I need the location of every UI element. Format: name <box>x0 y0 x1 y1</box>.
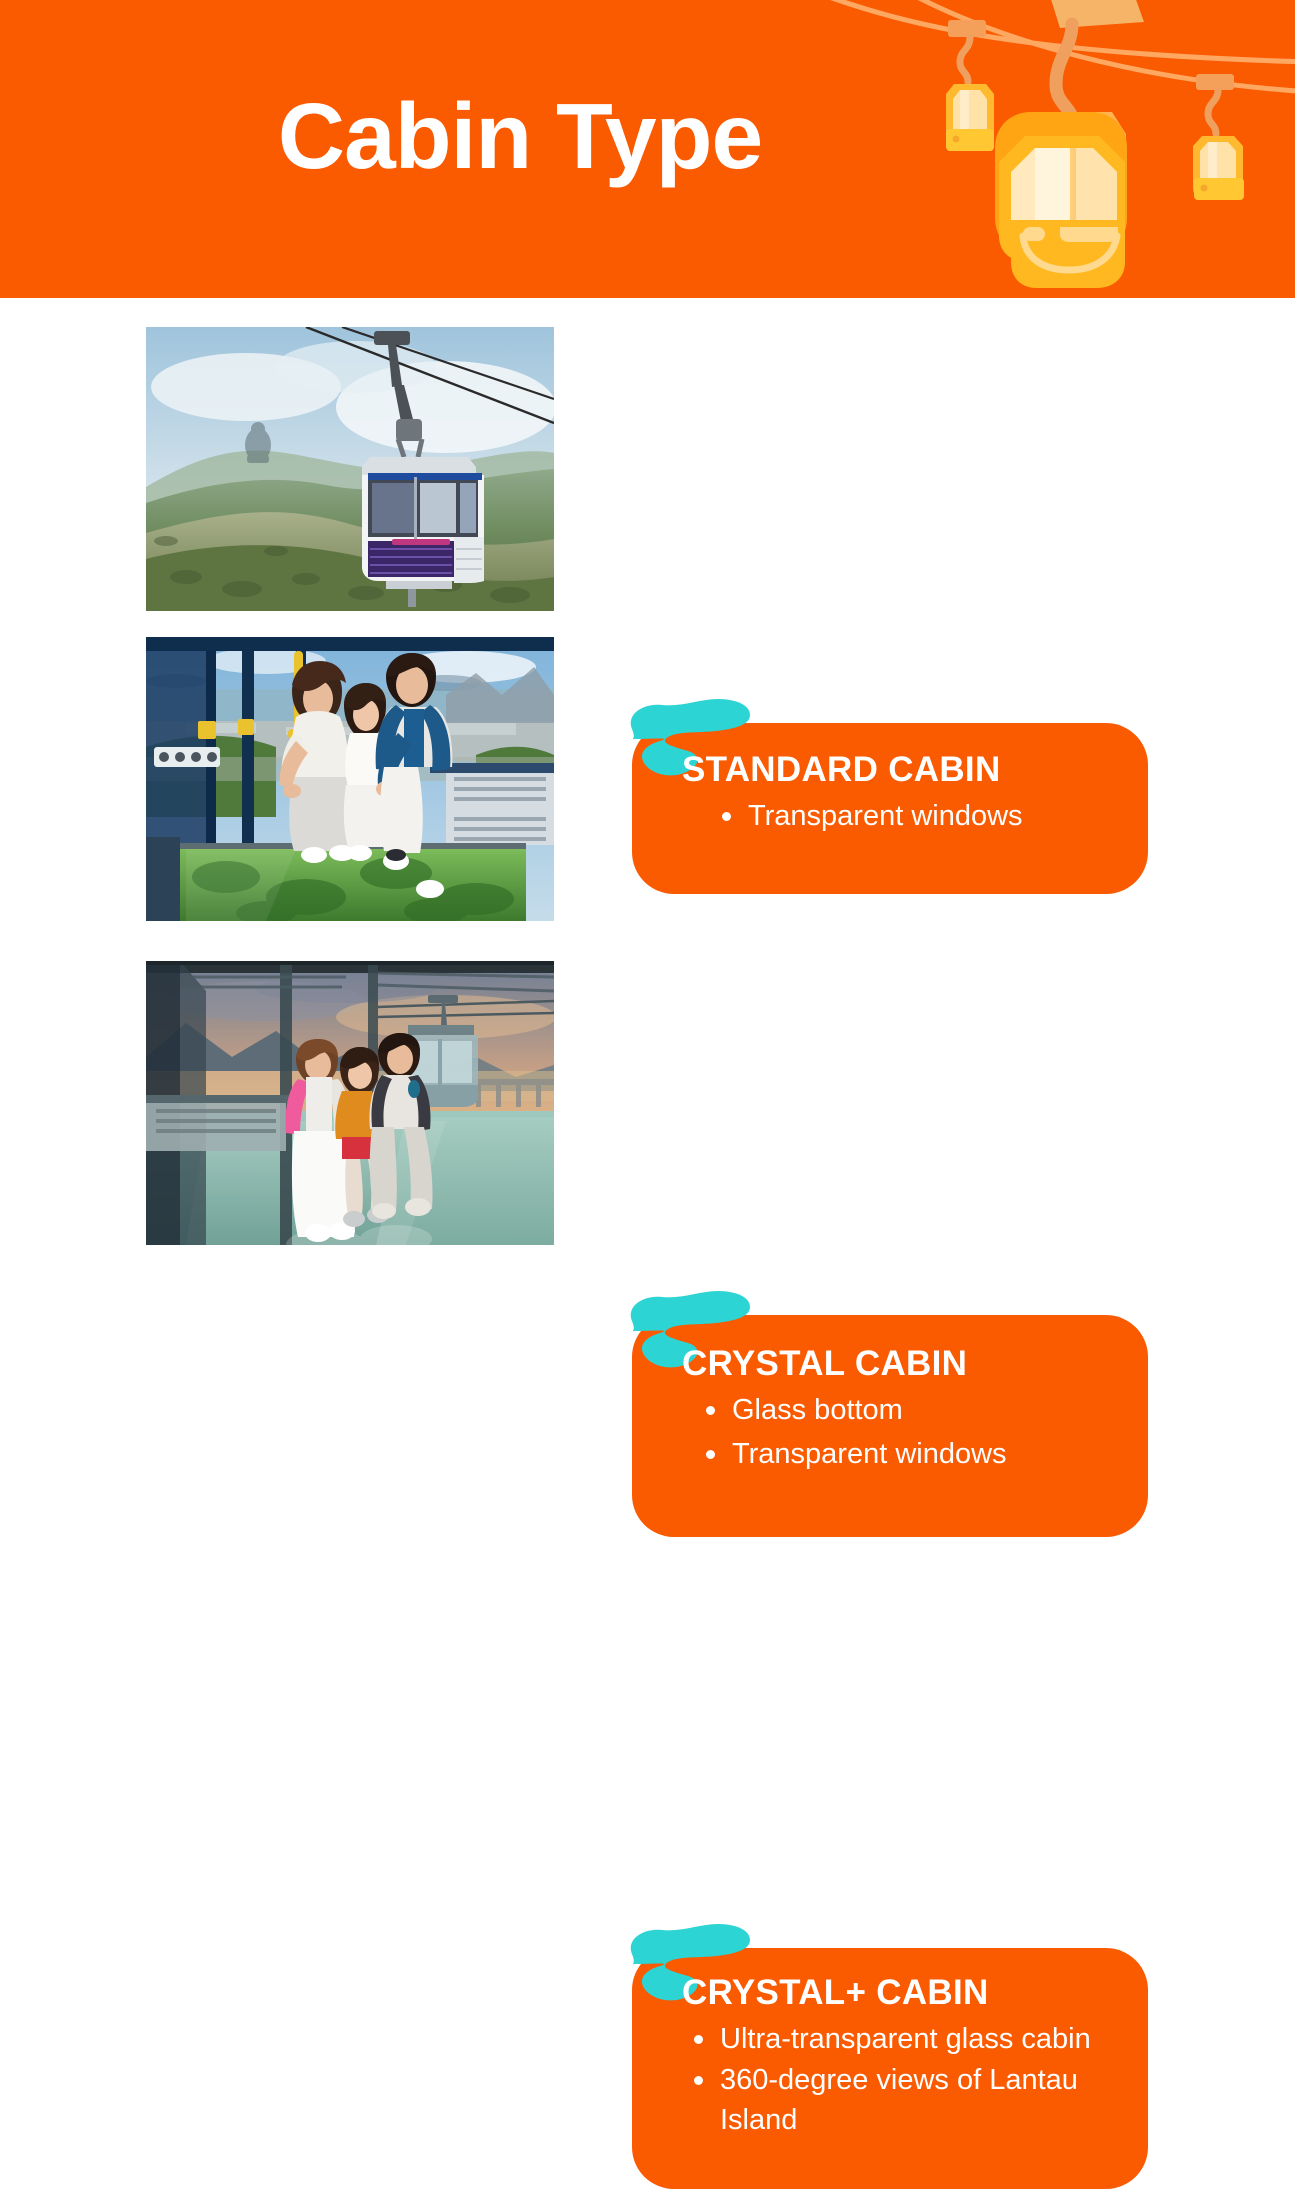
card-crystal-plus-cabin: CRYSTAL+ CABIN Ultra-transparent glass c… <box>632 1948 1148 2189</box>
list-item: Transparent windows <box>702 1434 1122 1474</box>
gondola-small-right <box>1193 74 1244 200</box>
list-item: Transparent windows <box>718 796 1122 836</box>
gondola-small-left <box>946 20 994 151</box>
card-content: CRYSTAL+ CABIN Ultra-transparent glass c… <box>632 1948 1148 2140</box>
photo-standard-cabin <box>146 327 554 611</box>
photo-crystal-plus-cabin <box>146 961 554 1245</box>
feature-list: Ultra-transparent glass cabin 360-degree… <box>682 2019 1122 2140</box>
feature-list: Glass bottom Transparent windows <box>682 1390 1122 1474</box>
infographic-page: Cabin Type <box>0 0 1295 1295</box>
photo-crystal-cabin <box>146 637 554 921</box>
cable-car-illustration <box>820 0 1295 298</box>
card-title: STANDARD CABIN <box>682 751 1122 790</box>
card-crystal-cabin: CRYSTAL CABIN Glass bottom Transparent w… <box>632 1315 1148 1537</box>
section-standard: STANDARD CABIN Transparent windows <box>0 327 1295 611</box>
card-content: STANDARD CABIN Transparent windows <box>632 723 1148 836</box>
feature-list: Transparent windows <box>682 796 1122 836</box>
card-title: CRYSTAL+ CABIN <box>682 1974 1122 2013</box>
section-crystal-plus: CRYSTAL+ CABIN Ultra-transparent glass c… <box>0 961 1295 1245</box>
header-banner: Cabin Type <box>0 0 1295 298</box>
card-content: CRYSTAL CABIN Glass bottom Transparent w… <box>632 1315 1148 1474</box>
card-title: CRYSTAL CABIN <box>682 1345 1122 1384</box>
list-item: Ultra-transparent glass cabin <box>690 2019 1122 2059</box>
list-item: Glass bottom <box>702 1390 1122 1430</box>
list-item: 360-degree views of Lantau Island <box>690 2060 1122 2140</box>
